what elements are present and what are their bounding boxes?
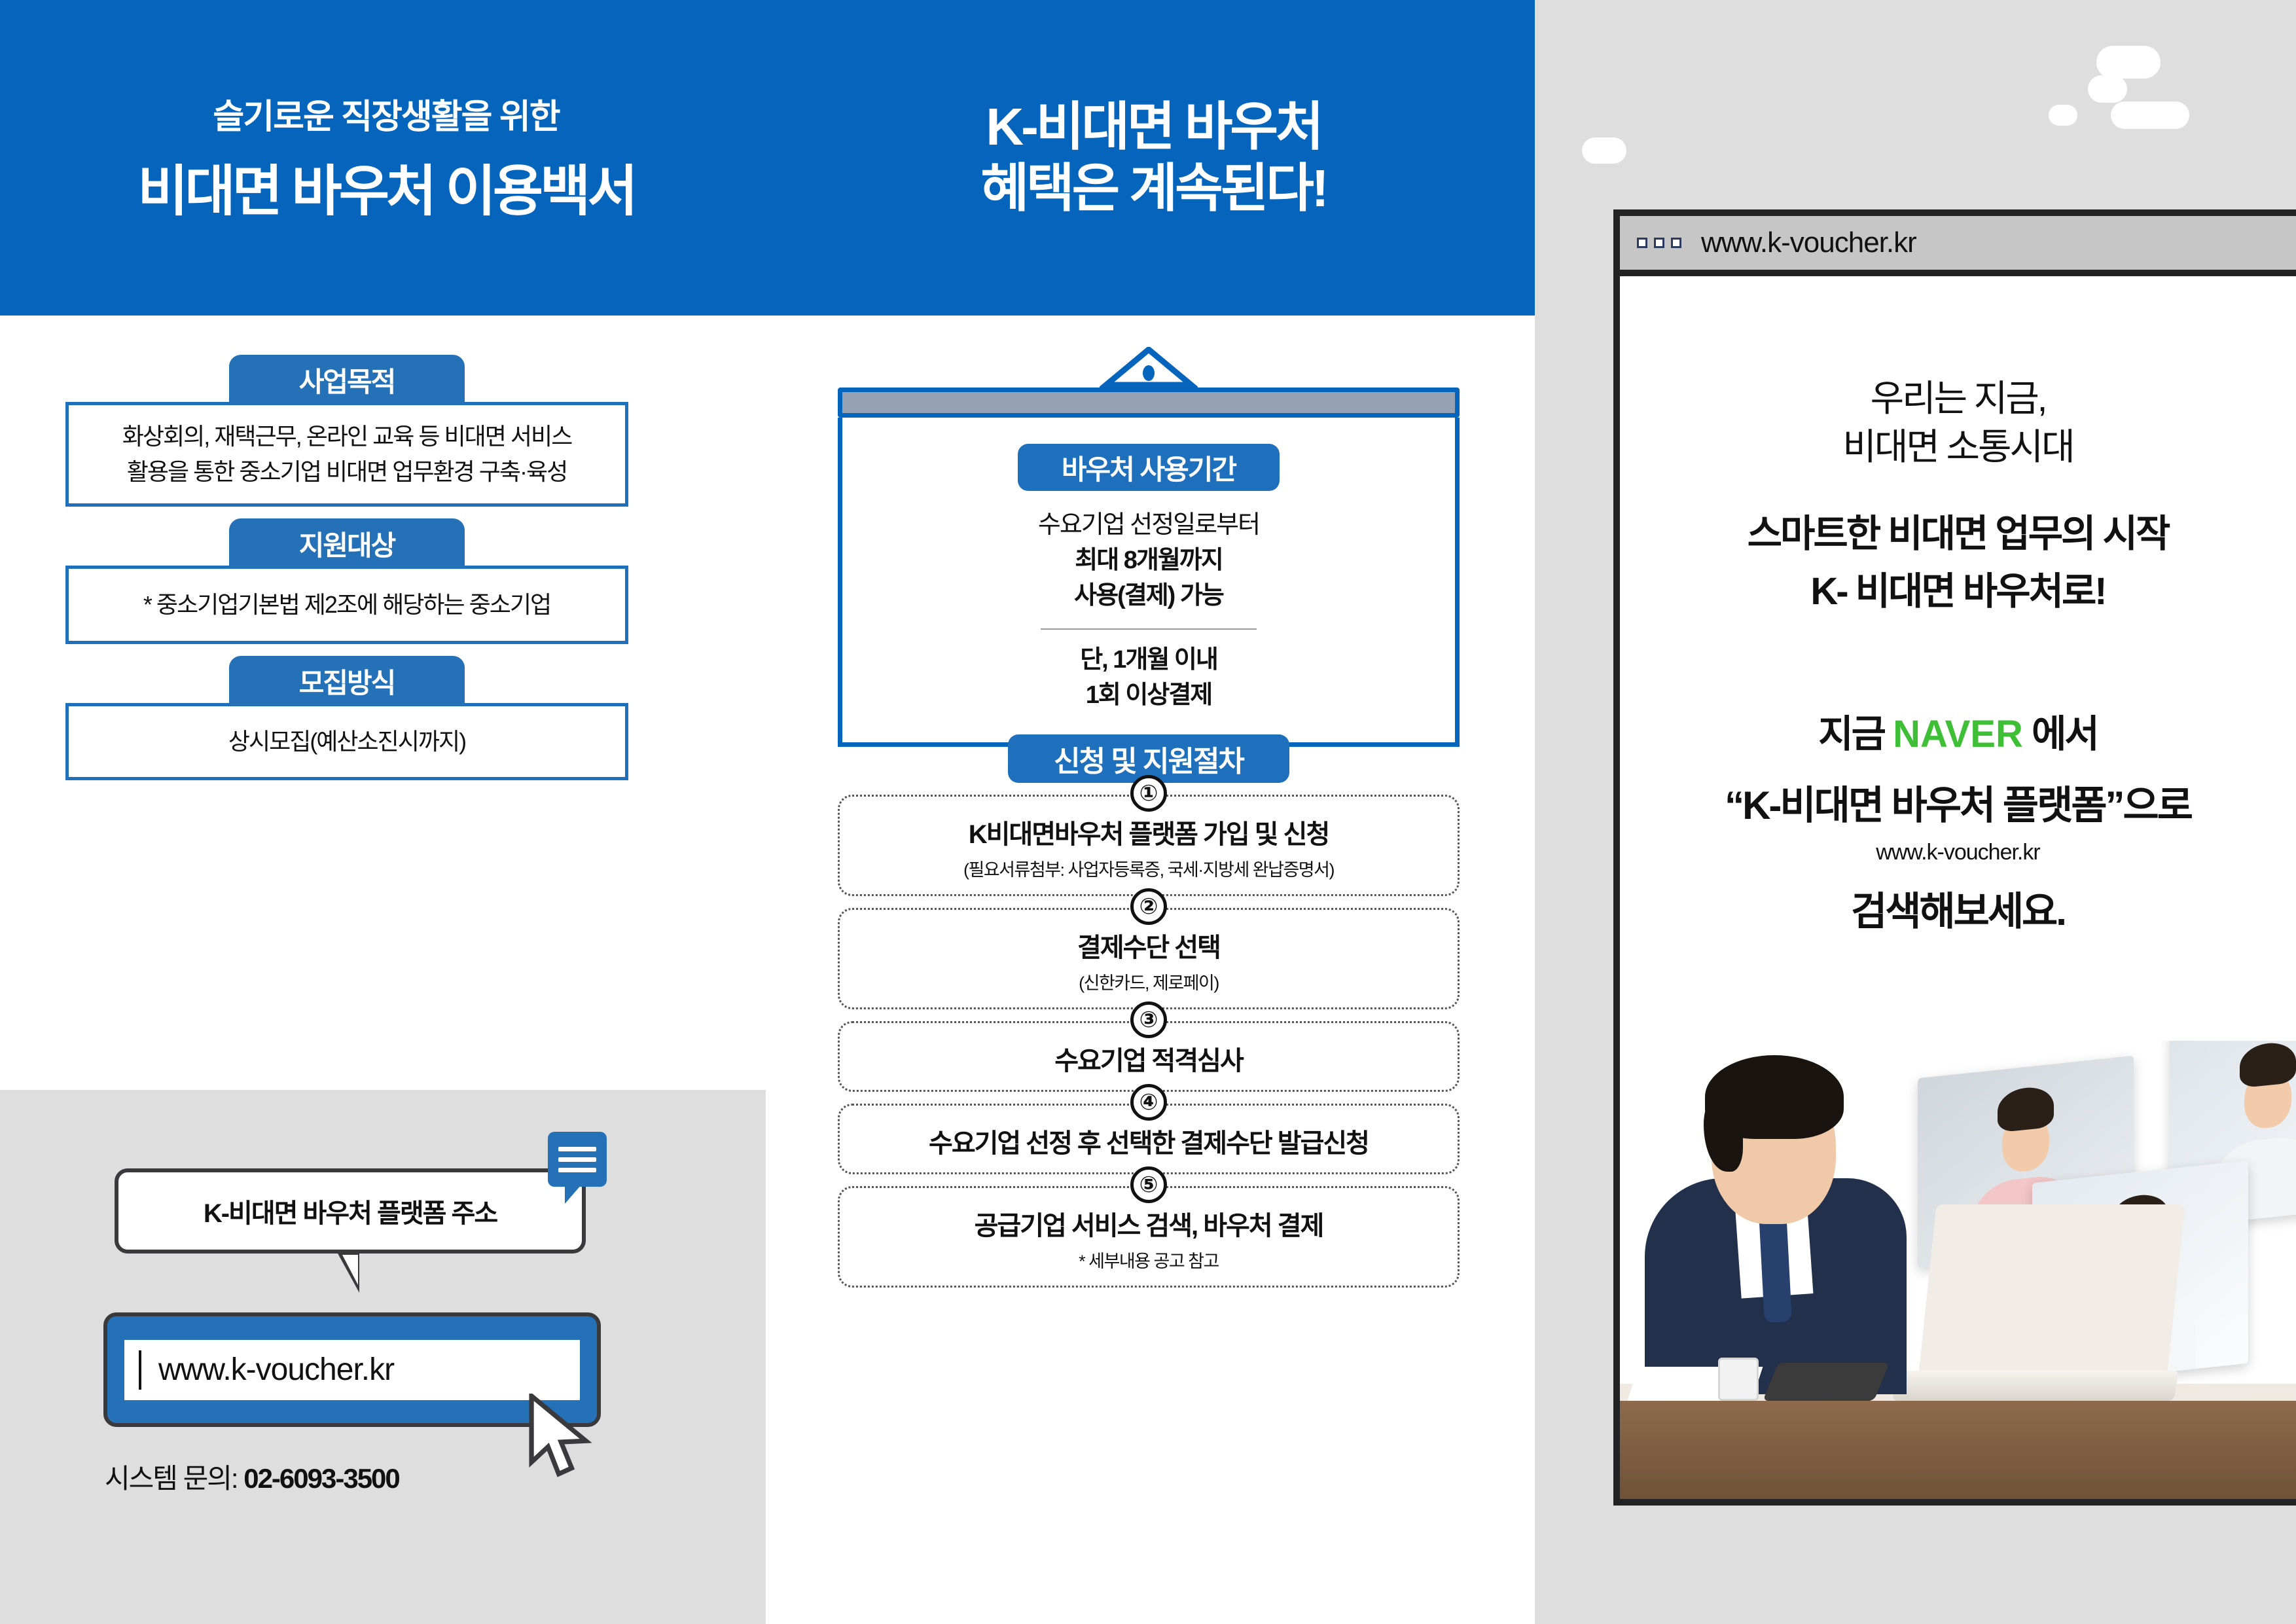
step-main-text: 공급기업 서비스 검색, 바우처 결제 (853, 1210, 1444, 1242)
step-main-text: 수요기업 선정 후 선택한 결제수단 발급신청 (853, 1128, 1444, 1159)
step-number-badge: ④ (1130, 1084, 1167, 1121)
header-right-line-2: 혜택은 계속된다! (980, 158, 1326, 219)
memo-icon (548, 1132, 607, 1187)
search-cta-line: 검색해보세요. (1620, 880, 2296, 937)
info-card-method-body: 상시모집(예산소진시까지) (65, 703, 628, 780)
projector-bar (838, 388, 1460, 418)
info-card-target-line-1: * 중소기업기본법 제2조에 해당하는 중소기업 (143, 587, 550, 623)
info-card-method-tab: 모집방식 (229, 656, 465, 706)
procedure-step-3: ③ 수요기업 적격심사 (838, 1021, 1460, 1092)
platform-small-url: www.k-voucher.kr (1620, 840, 2296, 865)
mouse-cursor-icon (526, 1394, 598, 1479)
text-caret-icon (139, 1350, 141, 1390)
naver-prefix: 지금 (1818, 713, 1893, 755)
naver-suffix: 에서 (2023, 713, 2098, 755)
info-card-target-tab: 지원대상 (229, 518, 465, 568)
window-controls-icon (1637, 238, 1681, 248)
system-contact: 시스템 문의: 02-6093-3500 (105, 1456, 399, 1496)
hero-photo (1620, 1041, 2296, 1499)
header-banner: 슬기로운 직장생활을 위한 비대면 바우처 이용백서 K-비대면 바우처 혜택은… (0, 0, 1535, 316)
procedure-step-2: ② 결제수단 선택 (신한카드, 제로페이) (838, 908, 1460, 1009)
procedure-step-1: ① K비대면바우처 플랫폼 가입 및 신청 (필요서류첨부: 사업자등록증, 국… (838, 795, 1460, 896)
voucher-period-line-3: 사용(결제) 가능 (1074, 579, 1223, 614)
platform-quote-line: “K-비대면 바우처 플랫폼”으로 (1620, 774, 2296, 831)
middle-column: 바우처 사용기간 수요기업 선정일로부터 최대 8개월까지 사용(결제) 가능 … (766, 316, 1535, 1624)
browser-cta-group: 지금 NAVER 에서 “K-비대면 바우처 플랫폼”으로 www.k-vouc… (1620, 703, 2296, 937)
voucher-period-line-1: 수요기업 선정일로부터 (1038, 508, 1259, 543)
browser-mockup: www.k-voucher.kr 우리는 지금, 비대면 소통시대 스마트한 비… (1613, 209, 2296, 1506)
projector-card: 바우처 사용기간 수요기업 선정일로부터 최대 8개월까지 사용(결제) 가능 … (838, 347, 1460, 747)
header-right: K-비대면 바우처 혜택은 계속된다! (772, 0, 1535, 316)
cloud-decor-icon (2096, 46, 2161, 79)
promo-bubble-wrap: K-비대면 바우처 플랫폼 주소 (115, 1168, 586, 1254)
cloud-decor-icon (2049, 105, 2077, 126)
procedure-step-5: ⑤ 공급기업 서비스 검색, 바우처 결제 * 세부내용 공고 참고 (838, 1186, 1460, 1288)
info-card-purpose-tab: 사업목적 (229, 355, 465, 405)
cloud-decor-icon (2088, 75, 2127, 103)
step-main-text: 결제수단 선택 (853, 932, 1444, 964)
bubble-tail-icon (337, 1252, 359, 1293)
step-number-badge: ⑤ (1130, 1166, 1167, 1203)
naver-search-line: 지금 NAVER 에서 (1620, 703, 2296, 758)
step-sub-text: (필요서류첨부: 사업자등록증, 국세·지방세 완납증명서) (853, 856, 1444, 881)
browser-headline-bold-2: K- 비대면 바우처로! (1620, 566, 2296, 618)
voucher-period-line-5: 1회 이상결제 (1086, 678, 1212, 713)
laptop-keyboard (1892, 1371, 2179, 1401)
browser-headline-light-1: 우리는 지금, (1620, 374, 2296, 423)
left-column: 사업목적 화상회의, 재택근무, 온라인 교육 등 비대면 서비스 활용을 통한… (0, 316, 766, 1090)
browser-headline-bold-1: 스마트한 비대면 업무의 시작 (1620, 508, 2296, 560)
laptop-screen (1918, 1204, 2185, 1375)
cloud-decor-icon (2111, 101, 2189, 129)
url-input[interactable]: www.k-voucher.kr (124, 1340, 580, 1400)
info-card-purpose-body: 화상회의, 재택근무, 온라인 교육 등 비대면 서비스 활용을 통한 중소기업… (65, 402, 628, 507)
browser-toolbar: www.k-voucher.kr (1620, 216, 2296, 276)
right-column: www.k-voucher.kr 우리는 지금, 비대면 소통시대 스마트한 비… (1535, 0, 2296, 1624)
divider (1041, 628, 1257, 630)
step-number-badge: ① (1130, 775, 1167, 812)
promo-panel: K-비대면 바우처 플랫폼 주소 www.k-voucher.kr 시스템 문의… (0, 1090, 766, 1624)
projector-hook-icon (838, 347, 1460, 388)
participant-hair (1998, 1085, 2054, 1132)
header-left: 슬기로운 직장생활을 위한 비대면 바우처 이용백서 (0, 0, 772, 316)
hair-side (1704, 1093, 1743, 1172)
desk-tablet (1763, 1363, 1889, 1401)
pen-cup (1718, 1358, 1759, 1401)
header-kicker: 슬기로운 직장생활을 위한 (213, 89, 559, 138)
promo-bubble: K-비대면 바우처 플랫폼 주소 (115, 1168, 586, 1254)
step-number-badge: ③ (1130, 1001, 1167, 1038)
voucher-period-line-4: 단, 1개월 이내 (1080, 643, 1217, 678)
procedure-step-4: ④ 수요기업 선정 후 선택한 결제수단 발급신청 (838, 1104, 1460, 1174)
info-card-target: 지원대상 * 중소기업기본법 제2조에 해당하는 중소기업 (65, 518, 628, 644)
info-card-purpose-line-2: 활용을 통한 중소기업 비대면 업무환경 구축·육성 (127, 454, 567, 490)
procedure-section: 신청 및 지원절차 ① K비대면바우처 플랫폼 가입 및 신청 (필요서류첨부:… (838, 734, 1460, 1288)
browser-content: 우리는 지금, 비대면 소통시대 스마트한 비대면 업무의 시작 K- 비대면 … (1620, 276, 2296, 937)
browser-url-text[interactable]: www.k-voucher.kr (1701, 226, 1916, 259)
system-contact-label: 시스템 문의: (105, 1463, 238, 1494)
step-number-badge: ② (1130, 888, 1167, 925)
page-title: 비대면 바우처 이용백서 (137, 147, 634, 226)
step-main-text: 수요기업 적격심사 (853, 1045, 1444, 1077)
naver-brand: NAVER (1893, 713, 2023, 755)
info-card-purpose-line-1: 화상회의, 재택근무, 온라인 교육 등 비대면 서비스 (122, 419, 571, 454)
cloud-decor-icon (1582, 137, 1626, 164)
participant-hair (2240, 1041, 2296, 1089)
step-sub-text: (신한카드, 제로페이) (853, 969, 1444, 994)
step-sub-text: * 세부내용 공고 참고 (853, 1247, 1444, 1272)
step-main-text: K비대면바우처 플랫폼 가입 및 신청 (853, 819, 1444, 850)
info-card-method: 모집방식 상시모집(예산소진시까지) (65, 656, 628, 780)
projector-screen: 바우처 사용기간 수요기업 선정일로부터 최대 8개월까지 사용(결제) 가능 … (838, 418, 1460, 747)
info-card-target-body: * 중소기업기본법 제2조에 해당하는 중소기업 (65, 566, 628, 644)
voucher-period-pill: 바우처 사용기간 (1018, 444, 1280, 491)
system-contact-number: 02-6093-3500 (243, 1463, 399, 1494)
browser-headline-light-2: 비대면 소통시대 (1620, 423, 2296, 471)
url-address-bar[interactable]: www.k-voucher.kr (103, 1312, 601, 1427)
voucher-period-line-2: 최대 8개월까지 (1075, 543, 1222, 579)
promo-bubble-label: K-비대면 바우처 플랫폼 주소 (204, 1192, 497, 1230)
info-card-purpose: 사업목적 화상회의, 재택근무, 온라인 교육 등 비대면 서비스 활용을 통한… (65, 355, 628, 507)
header-right-line-1: K-비대면 바우처 (986, 96, 1321, 158)
info-card-method-line-1: 상시모집(예산소진시까지) (228, 724, 465, 759)
url-input-value: www.k-voucher.kr (158, 1352, 394, 1388)
